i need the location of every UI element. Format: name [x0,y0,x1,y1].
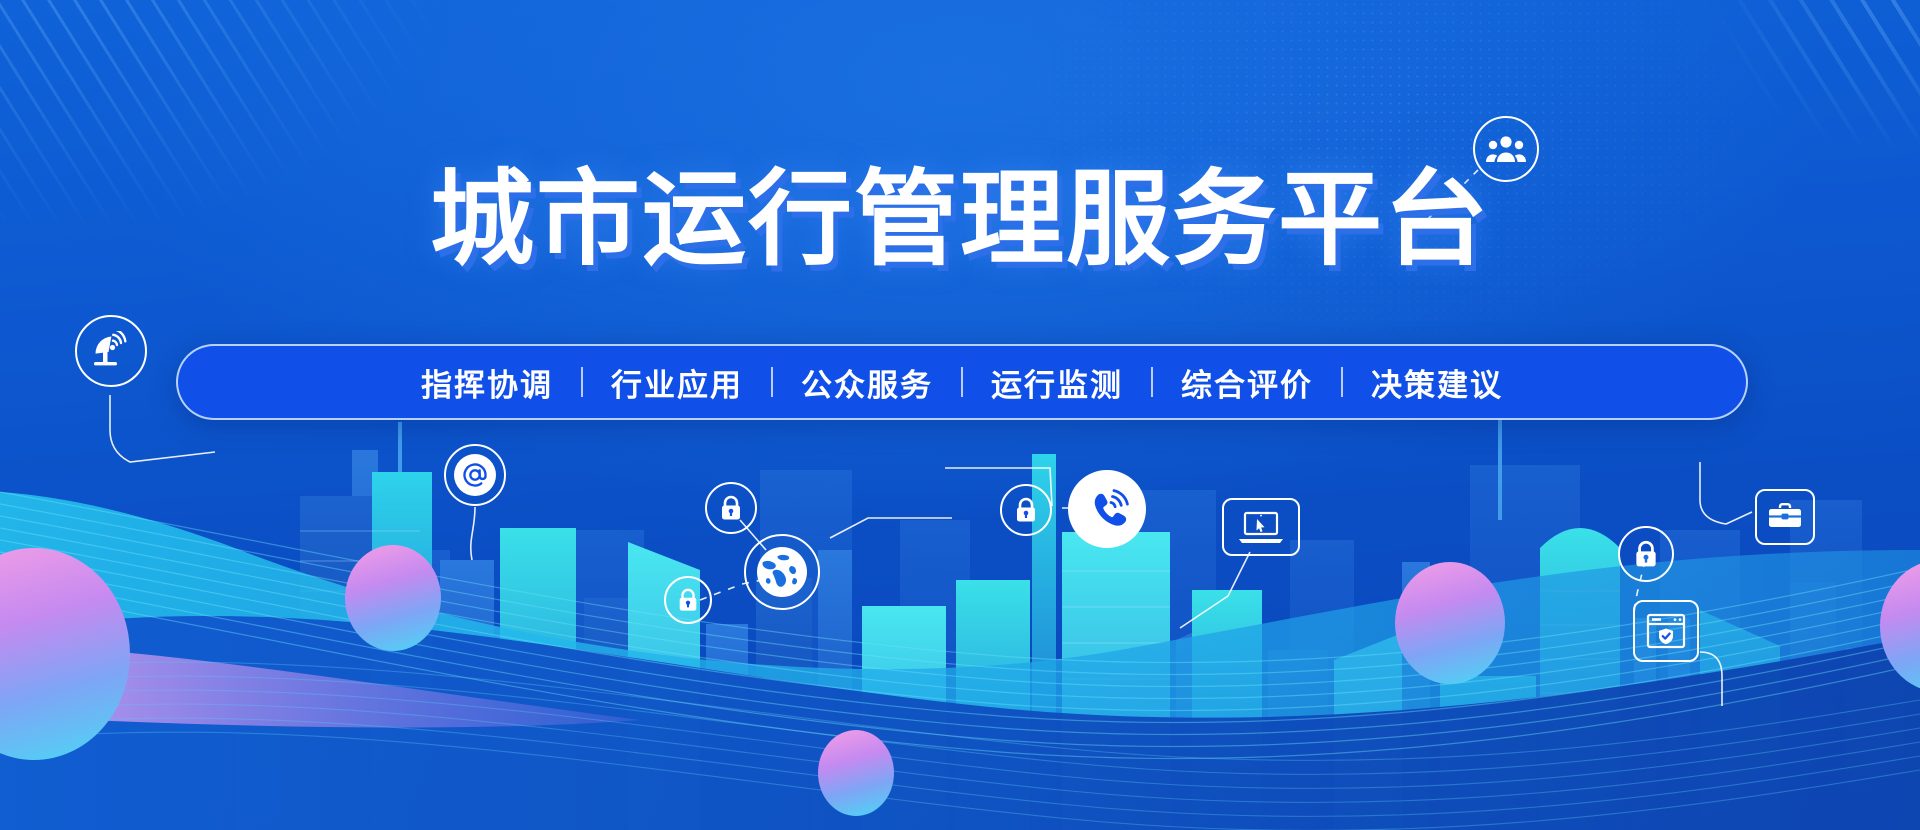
city-platform-banner: 城市运行管理服务平台 指挥协调 行业应用 公众服务 运行监测 综合评价 决策建议 [0,0,1920,830]
nav-item-command-coordination[interactable]: 指挥协调 [393,360,581,405]
page-title: 城市运行管理服务平台 [0,168,1920,272]
browser-shield-icon[interactable] [1633,600,1699,662]
at-sign-icon[interactable] [444,444,506,506]
laptop-cursor-icon[interactable] [1222,498,1300,556]
nav-item-industry-application[interactable]: 行业应用 [583,360,771,405]
nav-item-comprehensive-evaluation[interactable]: 综合评价 [1153,360,1341,405]
nav-item-operation-monitoring[interactable]: 运行监测 [963,360,1151,405]
nav-item-decision-suggestion[interactable]: 决策建议 [1343,360,1531,405]
briefcase-icon[interactable] [1755,489,1815,545]
lock-icon[interactable] [705,482,757,534]
primary-nav-bar: 指挥协调 行业应用 公众服务 运行监测 综合评价 决策建议 [176,344,1748,420]
nav-item-public-service[interactable]: 公众服务 [773,360,961,405]
phone-signal-icon[interactable] [1068,470,1146,548]
gradient-sphere-mid [345,545,441,651]
lock-icon[interactable] [664,576,712,624]
lock-icon[interactable] [1000,484,1052,536]
lock-icon[interactable] [1618,526,1674,582]
gradient-sphere-right [1395,562,1505,684]
satellite-dish-icon[interactable] [75,315,147,387]
globe-icon[interactable] [744,534,820,610]
gradient-sphere-bottom [818,730,894,816]
flowing-wave-ribbons [0,400,1920,830]
